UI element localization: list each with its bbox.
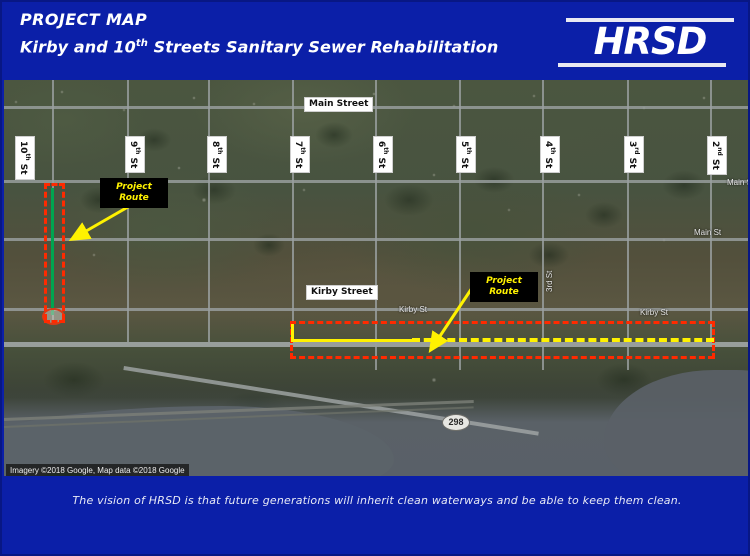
title-block: PROJECT MAP Kirby and 10th Streets Sanit… <box>20 10 498 58</box>
page-header: PROJECT MAP Kirby and 10th Streets Sanit… <box>2 2 750 76</box>
label-3rd-suffix: St <box>627 155 637 169</box>
project-map-page: PROJECT MAP Kirby and 10th Streets Sanit… <box>0 0 750 556</box>
hrsd-logo: HRSD <box>558 18 734 68</box>
label-10th-sup: th <box>24 154 31 161</box>
street-4th <box>542 80 544 370</box>
road-arterial <box>4 342 750 347</box>
work-area-1-left-edge <box>44 183 47 320</box>
street-label-10th-st: 10th St <box>15 136 35 180</box>
map-text-kirby-st-east: Kirby St <box>640 308 668 317</box>
page-footer: The vision of HRSD is that future genera… <box>2 476 750 556</box>
street-label-8th-st: 8th St <box>207 136 227 173</box>
street-label-main-street: Main Street <box>304 97 373 112</box>
subtitle-ordinal-suffix: th <box>136 38 148 49</box>
callout-2-line-2: Route <box>489 287 518 297</box>
subtitle-part-1: Kirby and 10 <box>20 37 136 56</box>
road-kirby-street <box>4 308 750 311</box>
street-label-4th-st: 4th St <box>540 136 560 173</box>
label-4th-suffix: St <box>543 154 553 168</box>
map-text-main-st-east: Main St <box>694 228 721 237</box>
aerial-map[interactable]: 298 Project Route Project Rou <box>4 80 750 476</box>
street-6th <box>375 80 377 370</box>
street-label-kirby-street: Kirby Street <box>306 285 378 300</box>
logo-wordmark: HRSD <box>566 22 734 62</box>
street-label-7th-st: 7th St <box>290 136 310 173</box>
label-9th-suffix: St <box>128 154 138 168</box>
page-subtitle: Kirby and 10th Streets Sanitary Sewer Re… <box>20 33 498 58</box>
callout-project-route-2: Project Route <box>470 272 538 302</box>
route-shield-298: 298 <box>442 414 470 431</box>
street-3rd <box>627 80 629 370</box>
callout-project-route-1: Project Route <box>100 178 168 208</box>
subtitle-part-2: Streets Sanitary Sewer Rehabilitation <box>148 37 498 56</box>
label-6th-suffix: St <box>376 154 386 168</box>
street-7th <box>292 80 294 342</box>
label-10th-base: 10 <box>18 141 28 154</box>
label-5th-suffix: St <box>459 154 469 168</box>
street-label-5th-st: 5th St <box>456 136 476 173</box>
work-area-1-bottom-edge <box>44 320 65 323</box>
street-label-2nd-st: 2nd St <box>707 136 727 175</box>
map-text-kirby-st-mid: Kirby St <box>399 305 427 314</box>
street-8th <box>208 80 210 342</box>
map-text-main-st-corner: Main St <box>727 178 750 187</box>
label-7th-suffix: St <box>293 154 303 168</box>
callout-2-line-1: Project <box>486 276 522 286</box>
label-8th-suffix: St <box>210 154 220 168</box>
work-area-2-bottom-edge <box>290 356 714 359</box>
street-label-3rd-st: 3rd St <box>624 136 644 173</box>
work-area-2-top-edge <box>290 321 714 324</box>
street-label-6th-st: 6th St <box>373 136 393 173</box>
logo-bar-bottom <box>558 63 726 67</box>
street-2nd <box>710 80 712 340</box>
callout-1-line-2: Route <box>119 193 148 203</box>
label-2nd-suffix: St <box>710 156 720 170</box>
label-2nd-sup: nd <box>716 147 723 156</box>
proposed-12in-gravity-main <box>291 339 414 342</box>
proposed-10in-gravity-main <box>51 188 54 315</box>
vision-statement: The vision of HRSD is that future genera… <box>2 494 750 507</box>
map-text-3rd-st-vertical: 3rd St <box>545 271 554 292</box>
map-attribution: Imagery ©2018 Google, Map data ©2018 Goo… <box>6 464 189 476</box>
label-3rd-sup: rd <box>633 147 640 154</box>
street-label-9th-st: 9th St <box>125 136 145 173</box>
road-main-street <box>4 106 750 109</box>
label-10th-suffix: St <box>18 161 28 175</box>
page-title: PROJECT MAP <box>20 10 498 30</box>
callout-1-line-1: Project <box>116 182 152 192</box>
